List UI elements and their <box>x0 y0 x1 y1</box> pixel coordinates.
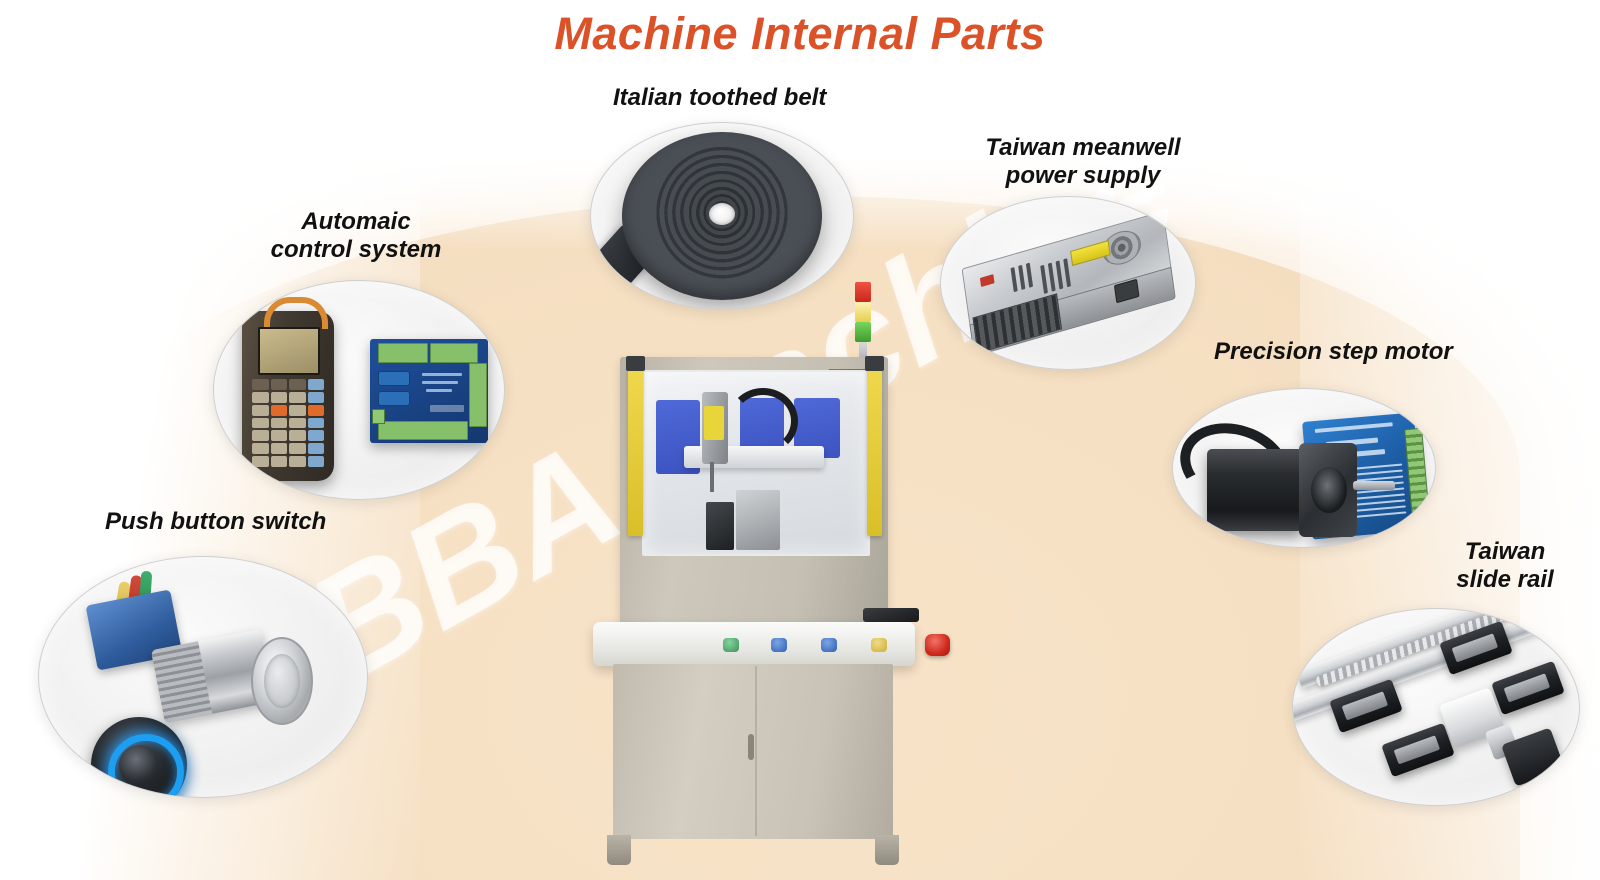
pcb-component <box>430 405 464 412</box>
machine-work-area <box>642 370 870 556</box>
handheld-pendant <box>242 311 334 481</box>
driver-terminal-strip <box>1404 428 1430 519</box>
light-curtain-cap-left <box>626 356 645 371</box>
callout-taiwan-slide-rail[interactable] <box>1292 608 1580 806</box>
illuminated-button-sample[interactable] <box>91 717 187 798</box>
pneumatic-hose <box>728 388 798 454</box>
belt-center-hole <box>709 203 735 225</box>
psu-spec-label <box>1070 240 1111 266</box>
power-supply-icon <box>941 197 1195 369</box>
callout-taiwan-meanwell-power-supply[interactable] <box>940 196 1196 370</box>
switch-threaded-barrel <box>151 641 212 723</box>
dispense-needle <box>710 462 714 492</box>
yellow-button[interactable] <box>871 638 887 652</box>
toothed-belt-coil-icon <box>591 123 853 309</box>
pcb-terminal-block <box>378 343 428 363</box>
blue-button-2[interactable] <box>821 638 837 652</box>
label-taiwan-meanwell-power-supply: Taiwan meanwell power supply <box>983 134 1183 191</box>
machine-foot-right <box>875 835 899 865</box>
pendant-lcd-screen <box>258 327 320 375</box>
emergency-stop-button[interactable] <box>925 634 950 656</box>
label-precision-step-motor: Precision step motor <box>1214 338 1453 366</box>
switch-button-head[interactable] <box>251 637 313 725</box>
work-fixture <box>736 490 780 550</box>
label-taiwan-slide-rail: Taiwan slide rail <box>1430 538 1580 595</box>
carriage-block <box>1381 723 1455 778</box>
green-button[interactable] <box>723 638 739 652</box>
psu-vent-slot <box>1056 261 1064 290</box>
pcb-db9-port <box>378 391 410 406</box>
page-title: Machine Internal Parts <box>0 8 1600 60</box>
pcb-terminal-block <box>430 343 478 363</box>
psu-vent-slot <box>1026 263 1033 288</box>
pendant-handle <box>264 297 328 329</box>
psu-vent-slot <box>1010 267 1017 292</box>
cabinet-door-seam <box>755 666 757 836</box>
control-pendant-and-board-icon <box>214 281 504 499</box>
pcb-db9-port <box>378 371 410 386</box>
light-curtain-left <box>628 366 643 536</box>
psu-vent-slot <box>1018 265 1025 290</box>
step-motor-and-driver-icon <box>1173 389 1435 547</box>
linear-slide-rail-icon <box>1293 609 1579 805</box>
blue-button-1[interactable] <box>771 638 787 652</box>
driver-label-line <box>1315 422 1393 433</box>
machine-bench-top <box>593 622 915 666</box>
label-push-button-switch: Push button switch <box>105 508 326 536</box>
light-curtain-cap-right <box>865 356 884 371</box>
stepper-motor-shaft <box>1353 481 1395 490</box>
pcb-silkscreen <box>422 373 462 376</box>
pcb-silkscreen <box>426 389 452 392</box>
stepper-motor-face <box>1299 443 1357 537</box>
light-curtain-right <box>867 366 882 536</box>
psu-vent-slot <box>1063 259 1071 288</box>
pcb-terminal-block <box>469 363 487 427</box>
tower-light-green <box>855 322 871 342</box>
machine-foot-left <box>607 835 631 865</box>
callout-italian-toothed-belt[interactable] <box>590 122 854 310</box>
carriage-block <box>1491 661 1565 716</box>
infographic-canvas: Machine Internal Parts BBA Machine <box>0 0 1600 880</box>
tower-light-yellow <box>855 302 871 322</box>
pcb-silkscreen <box>422 381 458 384</box>
psu-vent-slot <box>1040 265 1048 294</box>
tower-light-red <box>855 282 871 302</box>
label-italian-toothed-belt: Italian toothed belt <box>613 84 826 112</box>
bench-black-module <box>863 608 919 622</box>
callout-push-button-switch[interactable] <box>38 556 368 798</box>
stepper-motor-body <box>1207 449 1303 531</box>
label-automaic-control-system: Automaic control system <box>256 208 456 265</box>
pcb-power-connector <box>372 409 385 424</box>
psu-brand-mark <box>980 275 995 288</box>
sensor-box <box>706 502 734 550</box>
pcb-terminal-block <box>378 421 468 440</box>
psu-vent-slot <box>1048 263 1056 292</box>
machine-photo <box>575 282 935 880</box>
led-button-cap <box>119 745 159 785</box>
callout-automaic-control-system[interactable] <box>213 280 505 500</box>
pendant-keypad <box>252 379 324 467</box>
cabinet-door-handle[interactable] <box>748 734 754 760</box>
axis-warning-tag <box>704 406 724 440</box>
control-board <box>370 339 488 443</box>
callout-precision-step-motor[interactable] <box>1172 388 1436 548</box>
push-button-switch-icon <box>39 557 367 797</box>
power-supply-body <box>962 212 1175 361</box>
